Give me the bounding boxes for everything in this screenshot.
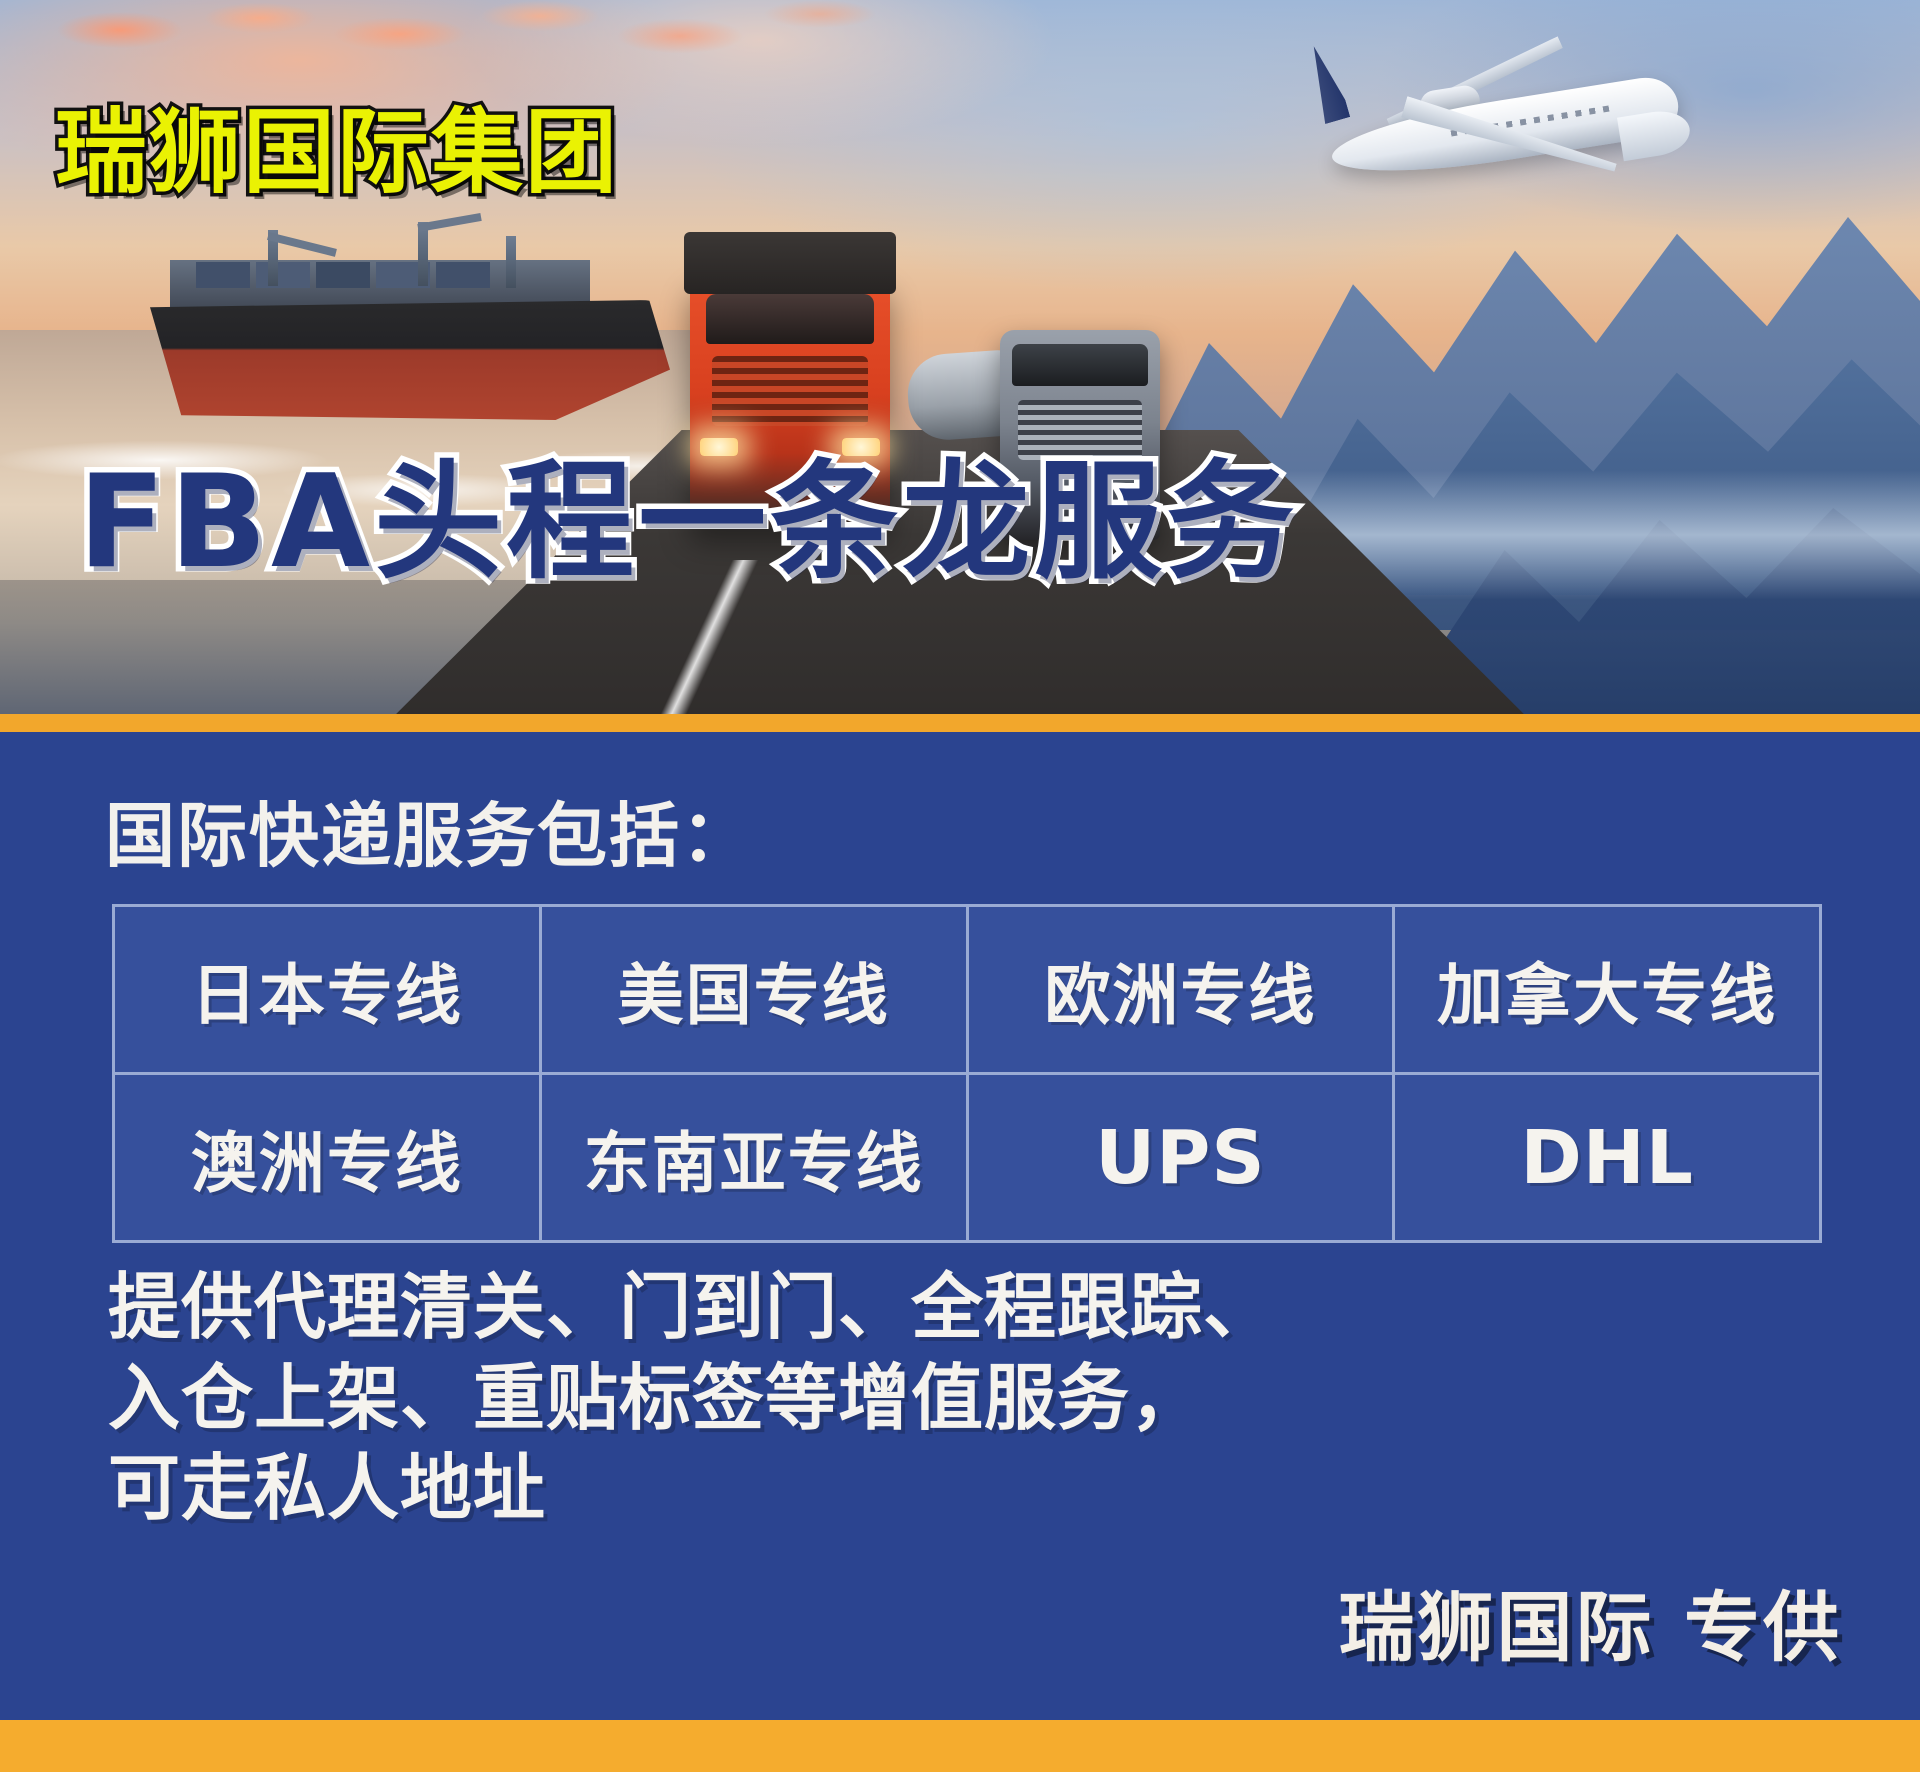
gold-divider-top (0, 714, 1920, 732)
ship-hull (150, 300, 670, 420)
service-cell-australia: 澳洲专线 (114, 1074, 541, 1242)
service-cell-southeast-asia: 东南亚专线 (540, 1074, 967, 1242)
truck-windshield (1012, 344, 1148, 386)
paragraph-line-1: 提供代理清关、门到门、全程跟踪、 (108, 1262, 1276, 1353)
paragraph-line-3: 可走私人地址 (108, 1443, 1276, 1534)
poster-root: 瑞狮国际集团 FBA头程一条龙服务 国际快递服务包括： 日本专线 美国专线 欧洲… (0, 0, 1920, 1772)
company-logo-text: 瑞狮国际集团 (55, 78, 619, 211)
truck-grille (712, 356, 868, 426)
ship-container (316, 262, 370, 288)
value-added-services-paragraph: 提供代理清关、门到门、全程跟踪、 入仓上架、重贴标签等增值服务， 可走私人地址 (108, 1262, 1276, 1534)
section-title: 国际快递服务包括： (105, 780, 753, 881)
service-cell-canada: 加拿大专线 (1394, 906, 1821, 1074)
service-cell-usa: 美国专线 (540, 906, 967, 1074)
ship-container (196, 262, 250, 288)
plane-nose (1617, 107, 1693, 161)
truck-trailer (684, 232, 896, 294)
service-cell-ups: UPS (967, 1074, 1394, 1242)
port-crane-icon (506, 236, 516, 288)
ship-container (436, 262, 490, 288)
truck-windshield (706, 294, 874, 344)
service-cell-dhl: DHL (1394, 1074, 1821, 1242)
ship-container (256, 262, 310, 288)
service-cell-europe: 欧洲专线 (967, 906, 1394, 1074)
hero-headline: FBA头程一条龙服务 (78, 418, 1298, 603)
gold-divider-bottom (0, 1720, 1920, 1772)
paragraph-line-2: 入仓上架、重贴标签等增值服务， (108, 1353, 1276, 1444)
info-panel: 国际快递服务包括： 日本专线 美国专线 欧洲专线 加拿大专线 澳洲专线 东南亚专… (0, 732, 1920, 1720)
table-row: 日本专线 美国专线 欧洲专线 加拿大专线 (114, 906, 1821, 1074)
services-table: 日本专线 美国专线 欧洲专线 加拿大专线 澳洲专线 东南亚专线 UPS DHL (112, 904, 1822, 1243)
service-cell-japan: 日本专线 (114, 906, 541, 1074)
airplane-icon (1270, 30, 1700, 230)
hero-banner: 瑞狮国际集团 FBA头程一条龙服务 (0, 0, 1920, 724)
table-row: 澳洲专线 东南亚专线 UPS DHL (114, 1074, 1821, 1242)
plane-tail-fin (1304, 42, 1350, 124)
footer-brand-note: 瑞狮国际 专供 (1339, 1566, 1842, 1676)
